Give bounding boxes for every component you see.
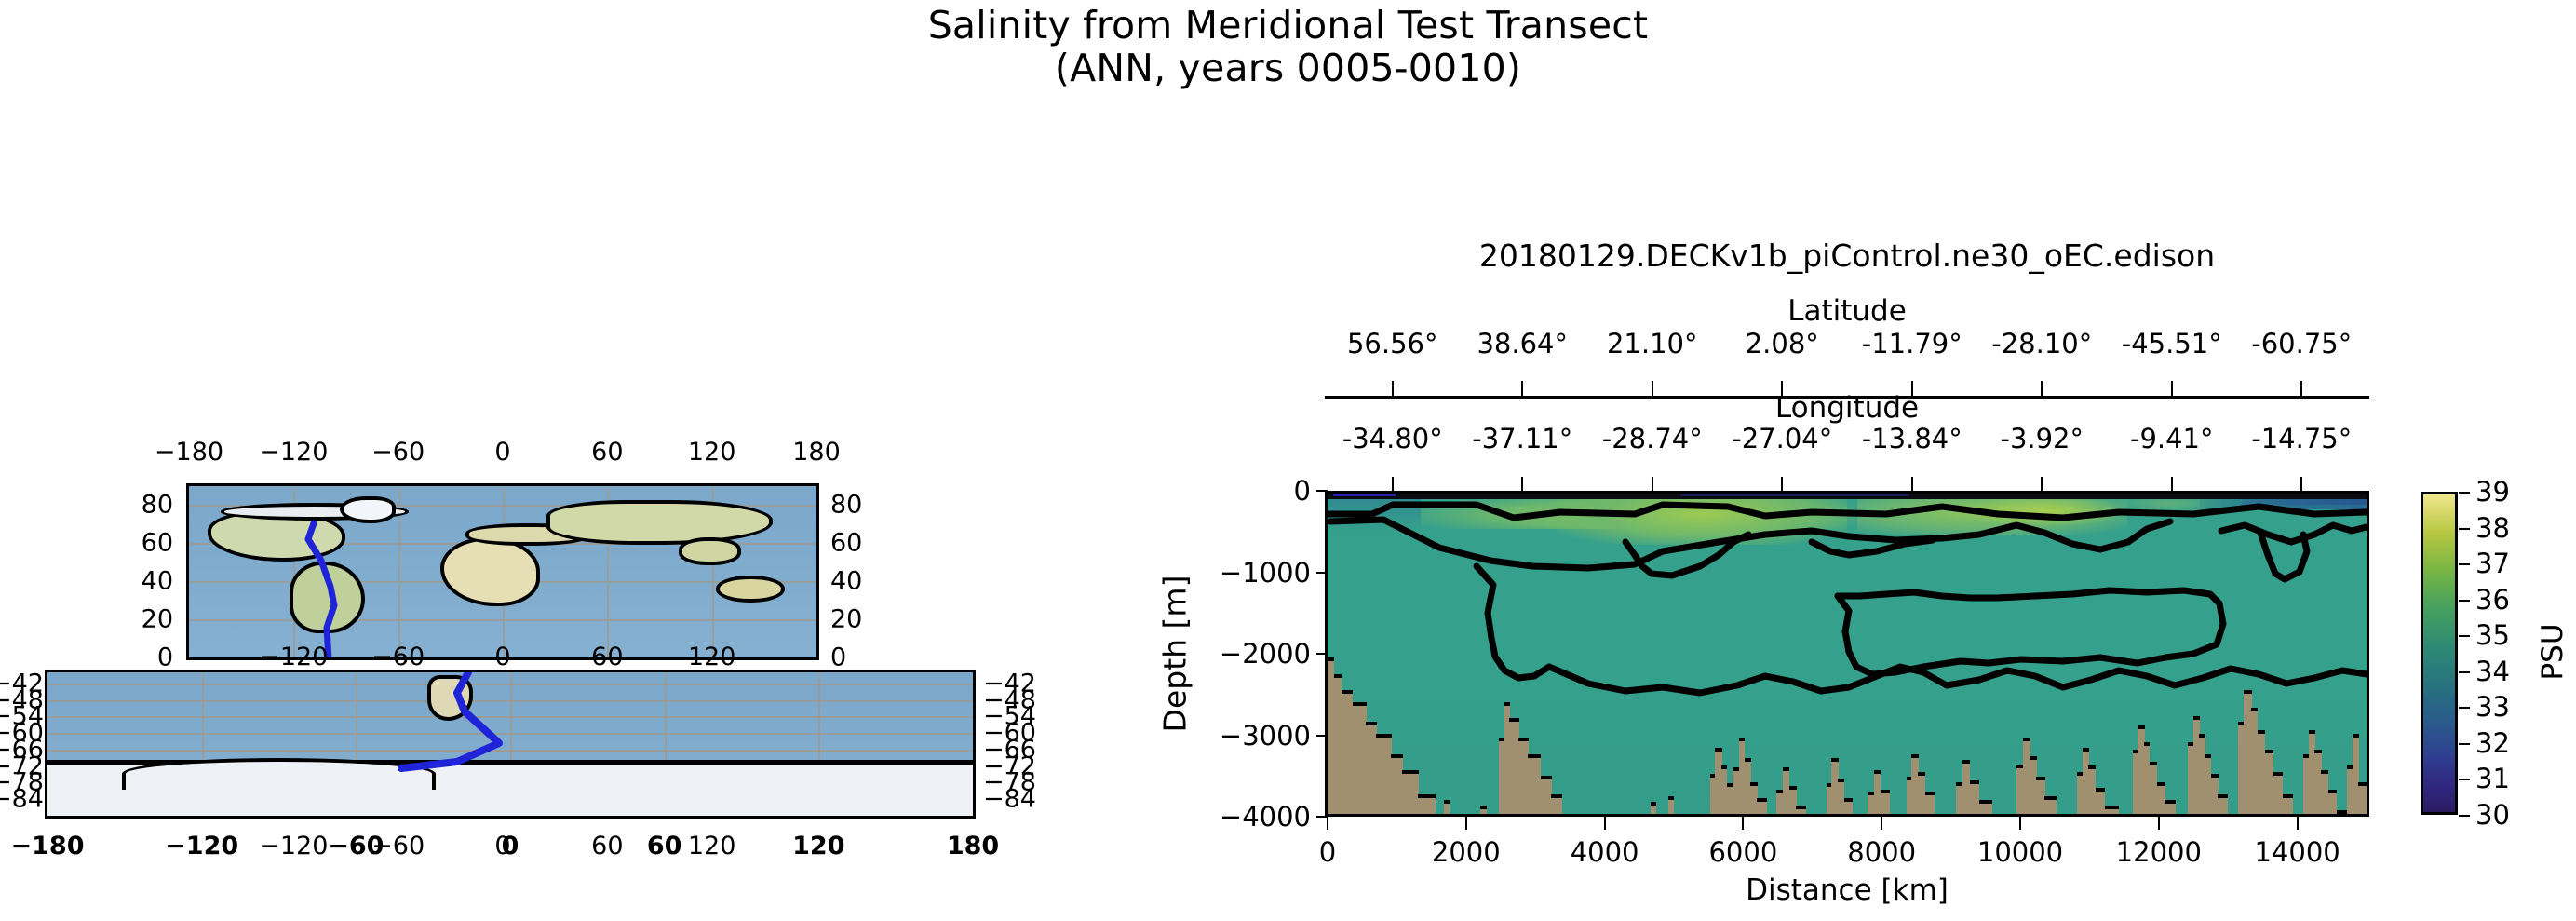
axis-tick-label: -34.80° <box>1342 423 1443 454</box>
map-overview-y-label-left: 40 <box>112 567 173 596</box>
bathymetry-block <box>2118 814 2133 817</box>
axis-tick <box>2171 477 2173 492</box>
axis-tick <box>1392 381 1394 396</box>
distance-tick-label: 14000 <box>2254 836 2340 868</box>
bathymetry-block <box>1656 814 1669 817</box>
depth-tick <box>1316 735 1328 737</box>
axis-tick-label: -28.74° <box>1602 423 1703 454</box>
map-overview-x-label: −60 <box>371 438 425 467</box>
figure-title: Salinity from Meridional Test Transect (… <box>0 4 2576 89</box>
map-overview-x-label: −180 <box>155 438 223 467</box>
depth-tick <box>1316 490 1328 492</box>
distance-tick <box>1327 817 1328 830</box>
axis-tick <box>1521 381 1523 396</box>
colorbar-title-psu: PSU <box>2536 623 2569 680</box>
map-southern-panel[interactable] <box>45 670 976 819</box>
colorbar-tick-label: 32 <box>2475 727 2510 759</box>
axis-tick <box>2041 477 2043 492</box>
axis-tick-label: 38.64° <box>1477 328 1568 359</box>
map-overview-x-label-overlap: −120 <box>259 832 328 860</box>
colorbar-tick-label: 30 <box>2475 799 2510 831</box>
map-overview-y-label-right: 40 <box>830 567 862 596</box>
graticule-parallel <box>47 750 973 752</box>
depth-tick-label: 0 <box>1180 475 1311 507</box>
axis-tick-label: -27.04° <box>1732 423 1832 454</box>
bathymetry-block <box>1435 814 1445 817</box>
map-overview-y-label-left: 20 <box>112 605 173 634</box>
distance-tick-label: 8000 <box>1847 836 1916 868</box>
axis-tick-label: -13.84° <box>1862 423 1962 454</box>
landmass <box>679 537 741 564</box>
axis-tick-label: 56.56° <box>1347 328 1438 359</box>
bathymetry-block <box>1991 814 2016 817</box>
map-southern-x-label: 60 <box>647 832 682 860</box>
map-overview-x-label: −120 <box>259 438 328 467</box>
graticule-parallel <box>47 716 973 718</box>
antarctic-peninsula-region <box>122 758 437 790</box>
distance-tick-label: 12000 <box>2116 836 2202 868</box>
map-overview-y-label-right: 60 <box>830 529 862 558</box>
colorbar-tick <box>2459 528 2470 530</box>
axis-tick-label: -28.10° <box>1991 328 2092 359</box>
graticule-parallel <box>47 684 973 685</box>
axis-tick-label: 21.10° <box>1607 328 1698 359</box>
colorbar-tick-label: 38 <box>2475 512 2510 544</box>
colorbar-tick <box>2459 779 2470 780</box>
axis-tick <box>2300 381 2302 396</box>
panel-subtitle: 20180129.DECKv1b_piControl.ne30_oEC.edis… <box>1325 237 2369 274</box>
map-southern-x-label: 180 <box>947 832 999 860</box>
bathymetry-block <box>2056 814 2077 817</box>
bathymetry-block <box>1578 814 1652 817</box>
axis-tick-label: -9.41° <box>2130 423 2214 454</box>
axis-tick <box>1652 381 1653 396</box>
map-overview-y-label-right: 0 <box>830 643 846 672</box>
figure-title-line2: (ANN, years 0005-0010) <box>0 47 2576 89</box>
distance-tick <box>1881 817 1882 830</box>
landmass <box>716 576 785 603</box>
axis-tick <box>1781 477 1783 492</box>
bathymetry-block <box>1674 814 1711 817</box>
figure-title-line1: Salinity from Meridional Test Transect <box>0 4 2576 47</box>
axis-tick-label: -37.11° <box>1472 423 1572 454</box>
distance-tick-label: 4000 <box>1571 836 1639 868</box>
landmass <box>546 500 773 545</box>
map-overview-y-label-left: 60 <box>112 529 173 558</box>
map-overview-x-label-bottom: −120 <box>259 643 328 671</box>
colorbar-tick <box>2459 600 2470 602</box>
map-overview-y-label-right: 20 <box>830 605 862 634</box>
distance-tick-label: 6000 <box>1708 836 1777 868</box>
colorbar-tick-label: 34 <box>2475 656 2510 687</box>
depth-tick <box>1316 653 1328 655</box>
distance-tick-label: 2000 <box>1432 836 1501 868</box>
bathymetry-block <box>1487 814 1500 817</box>
map-overview-x-label: 120 <box>688 438 736 467</box>
map-overview-x-label-overlap: 60 <box>591 832 623 860</box>
map-overview-x-label: 60 <box>591 438 623 467</box>
colorbar-tick-label: 33 <box>2475 691 2510 723</box>
graticule-parallel <box>189 619 816 621</box>
colorbar-tick-label: 35 <box>2475 619 2510 651</box>
depth-tick-label: −2000 <box>1180 638 1311 670</box>
graticule-parallel <box>47 733 973 735</box>
map-southern-x-label: 120 <box>792 832 844 860</box>
colorbar-tick <box>2459 635 2470 637</box>
map-overview-panel[interactable] <box>186 483 819 660</box>
axis-tick-label: -3.92° <box>2000 423 2084 454</box>
colorbar-tick-label: 39 <box>2475 476 2510 508</box>
distance-tick <box>1742 817 1744 830</box>
map-overview-x-label: 0 <box>494 438 510 467</box>
map-overview-x-label-bottom: 0 <box>494 643 510 671</box>
bathymetry-block <box>1935 814 1957 817</box>
distance-tick <box>2158 817 2160 830</box>
depth-tick <box>1316 572 1328 574</box>
section-inner <box>1328 494 2367 814</box>
longitude-axis-title: Longitude <box>1775 391 1919 425</box>
axis-tick-label: -14.75° <box>2251 423 2352 454</box>
distance-tick <box>1604 817 1606 830</box>
colorbar-tick <box>2459 815 2470 817</box>
map-southern-x-label: −180 <box>11 832 85 860</box>
colorbar-tick <box>2459 707 2470 709</box>
bathymetry-block <box>1890 814 1908 817</box>
axis-tick <box>2171 381 2173 396</box>
axis-tick-label: -45.51° <box>2122 328 2222 359</box>
bathymetry-block <box>1766 814 1777 817</box>
map-southern-y-label-left: −84 <box>0 785 39 814</box>
colorbar-tick <box>2459 492 2470 494</box>
colorbar-tick-label: 31 <box>2475 763 2510 794</box>
bathymetry-block <box>1561 814 1579 817</box>
axis-tick-label: -11.79° <box>1862 328 1962 359</box>
map-overview-y-label-left: 0 <box>112 643 173 672</box>
map-overview-y-label-left: 80 <box>112 491 173 520</box>
axis-tick-label: -60.75° <box>2251 328 2352 359</box>
map-overview-x-label-overlap: 120 <box>688 832 736 860</box>
axis-tick <box>2041 381 2043 396</box>
map-overview-x-label-bottom: 60 <box>591 643 623 671</box>
graticule-parallel <box>47 700 973 702</box>
map-southern-x-label: −120 <box>165 832 238 860</box>
map-overview-x-label-bottom: 120 <box>688 643 736 671</box>
colorbar-tick <box>2459 671 2470 673</box>
map-overview-x-label-overlap: −60 <box>371 832 425 860</box>
x-axis-title-distance: Distance [km] <box>1746 874 1949 907</box>
salinity-contour-lines <box>1328 494 2367 814</box>
axis-tick <box>2300 477 2302 492</box>
distance-tick <box>2019 817 2021 830</box>
map-overview-x-label-bottom: −60 <box>371 643 425 671</box>
axis-tick-label: 2.08° <box>1746 328 1819 359</box>
axis-tick <box>1392 477 1394 492</box>
landmass <box>290 562 365 633</box>
bathymetry-block <box>2227 814 2238 817</box>
axis-tick <box>1911 477 1913 492</box>
distance-tick <box>1465 817 1467 830</box>
colorbar-tick <box>2459 563 2470 565</box>
axis-tick <box>1652 477 1653 492</box>
map-overview-y-label-right: 80 <box>830 491 862 520</box>
depth-tick-label: −1000 <box>1180 557 1311 589</box>
distance-tick <box>2297 817 2299 830</box>
bathymetry-block <box>1853 814 1868 817</box>
map-overview-x-label: 180 <box>792 438 841 467</box>
latitude-axis-title: Latitude <box>1787 294 1907 328</box>
depth-tick-label: −4000 <box>1180 801 1311 833</box>
bathymetry-block <box>2176 814 2189 817</box>
bathymetry-block <box>2293 814 2304 817</box>
distance-tick-label: 0 <box>1319 836 1336 868</box>
distance-tick-label: 10000 <box>1977 836 2063 868</box>
colorbar-tick-label: 37 <box>2475 548 2510 579</box>
colorbar-tick-label: 36 <box>2475 584 2510 616</box>
map-overview-x-label-overlap: 0 <box>494 832 510 860</box>
salinity-section-plot[interactable] <box>1325 491 2369 817</box>
map-southern-y-label-right: −84 <box>983 785 1036 814</box>
axis-tick <box>1521 477 1523 492</box>
colorbar-tick <box>2459 743 2470 745</box>
bathymetry-block <box>1805 814 1827 817</box>
depth-tick-label: −3000 <box>1180 720 1311 752</box>
salinity-colorbar[interactable] <box>2421 492 2458 815</box>
